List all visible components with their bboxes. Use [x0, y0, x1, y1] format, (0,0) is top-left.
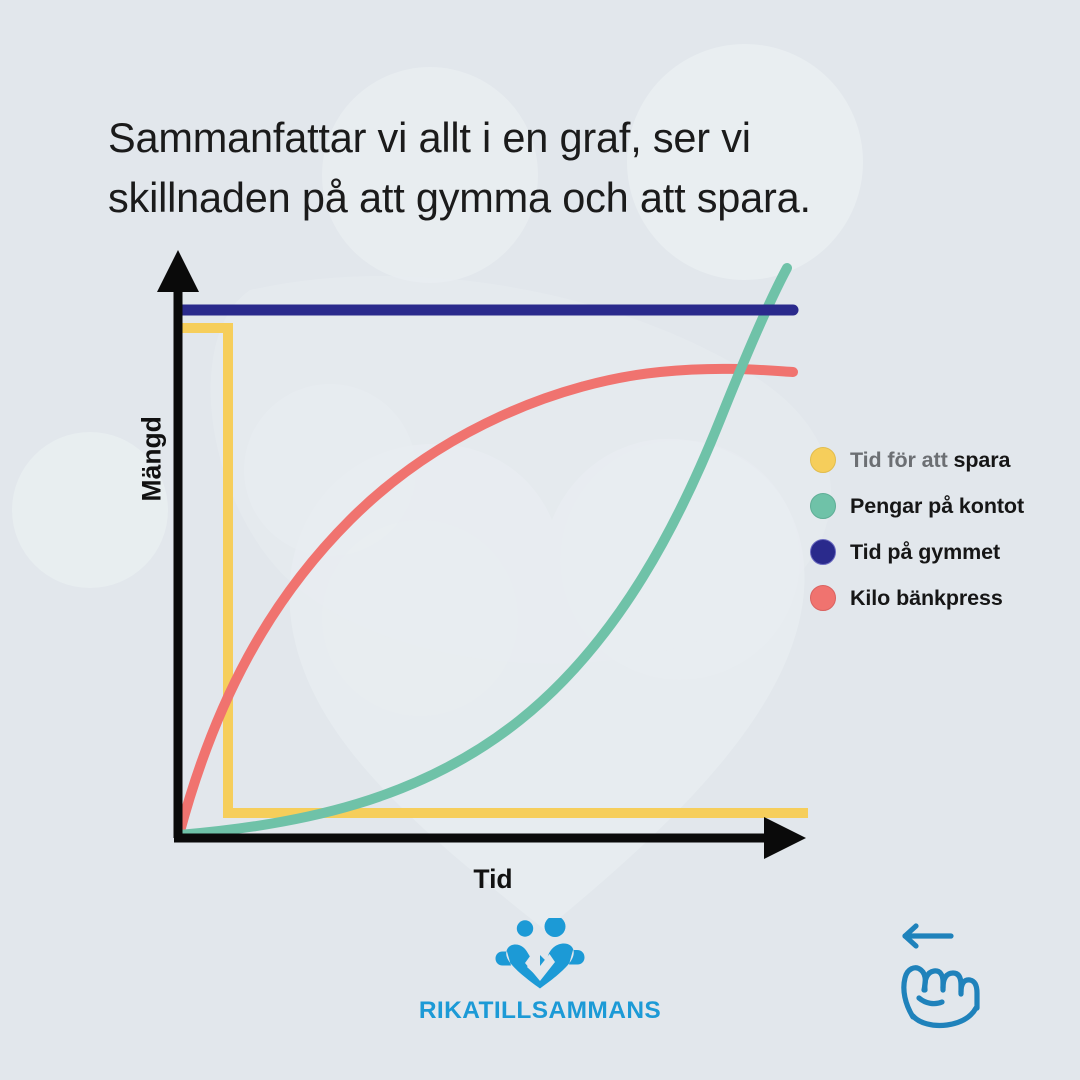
legend-item-kilo-bankpress: Kilo bänkpress: [810, 575, 1072, 621]
series-line-kilo-bankpress: [179, 369, 793, 835]
y-axis-arrowhead: [157, 250, 199, 292]
legend-label-prefix: Tid för att: [850, 448, 954, 472]
brand-name: RIKATILLSAMMANS: [390, 997, 690, 1025]
brand-block: RIKATILLSAMMANS: [390, 918, 690, 1025]
chart-legend: Tid för att spara Pengar på kontot Tid p…: [810, 437, 1072, 621]
x-axis-label: Tid: [178, 864, 808, 895]
series-line-pengar-pa-kontot: [179, 268, 787, 835]
legend-item-tid-for-att-spara: Tid för att spara: [810, 437, 1072, 483]
legend-label-emphasis: spara: [954, 448, 1011, 472]
legend-color-swatch-yellow: [810, 447, 836, 473]
legend-color-swatch-green: [810, 493, 836, 519]
legend-item-label: Tid för att spara: [850, 448, 1010, 473]
y-axis-label: Mängd: [137, 442, 168, 502]
x-axis-arrowhead: [764, 817, 806, 859]
legend-item-label: Kilo bänkpress: [850, 586, 1003, 611]
infographic-canvas: Sammanfattar vi allt i en graf, ser vi s…: [0, 0, 1080, 1080]
swipe-left-hand-icon: [885, 912, 1005, 1032]
legend-color-swatch-blue: [810, 539, 836, 565]
legend-item-pengar-pa-kontot: Pengar på kontot: [810, 483, 1072, 529]
legend-item-label: Tid på gymmet: [850, 540, 1000, 565]
legend-color-swatch-red: [810, 585, 836, 611]
rikatillsammans-logo-icon: [494, 918, 586, 992]
legend-item-tid-pa-gymmet: Tid på gymmet: [810, 529, 1072, 575]
legend-item-label: Pengar på kontot: [850, 494, 1024, 519]
